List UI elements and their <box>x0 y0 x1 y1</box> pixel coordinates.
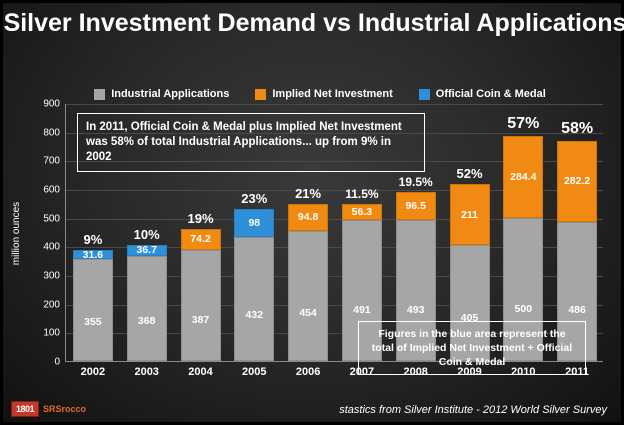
bar-value-top: 211 <box>450 210 490 221</box>
bar-value-top: 98 <box>234 218 274 229</box>
bar-value-industrial: 432 <box>234 310 274 321</box>
bar-value-top: 31.6 <box>73 250 113 261</box>
chart-legend: Industrial Applications Implied Net Inve… <box>65 85 575 103</box>
bar-value-top: 94.8 <box>288 212 328 223</box>
y-axis-tick: 500 <box>43 213 60 224</box>
legend-label-investment: Implied Net Investment <box>272 88 392 100</box>
legend-item-investment: Implied Net Investment <box>255 88 392 100</box>
bar-value-industrial: 387 <box>181 315 221 326</box>
bar-value-industrial: 491 <box>342 305 382 316</box>
bar-segment-industrial <box>181 250 221 361</box>
legend-item-industrial: Industrial Applications <box>94 88 229 100</box>
bar-value-top: 74.2 <box>181 234 221 245</box>
x-axis-tick-2004: 2004 <box>174 366 228 378</box>
bar-percent-2011: 58% <box>557 120 597 138</box>
x-axis-tick-2002: 2002 <box>66 366 120 378</box>
y-axis-tick: 400 <box>43 242 60 253</box>
chart-canvas: Silver Investment Demand vs Industrial A… <box>0 0 624 425</box>
x-axis-tick-2003: 2003 <box>120 366 174 378</box>
bar-percent-2004: 19% <box>181 211 221 226</box>
bar-value-top: 36.7 <box>127 245 167 256</box>
y-axis-tick: 800 <box>43 127 60 138</box>
y-axis-tick: 700 <box>43 156 60 167</box>
y-axis-tick: 0 <box>54 357 60 368</box>
bar-value-industrial: 493 <box>396 305 436 316</box>
annotation-note-top: In 2011, Official Coin & Medal plus Impl… <box>77 113 425 172</box>
y-axis-tick: 100 <box>43 328 60 339</box>
bar-percent-2005: 23% <box>234 191 274 206</box>
legend-swatch-investment <box>255 89 266 100</box>
bar-percent-2007: 11.5% <box>342 187 382 201</box>
bar-segment-industrial <box>127 256 167 361</box>
legend-label-industrial: Industrial Applications <box>111 88 229 100</box>
y-axis-label-text: million ounces <box>12 201 23 264</box>
bar-value-industrial: 500 <box>503 304 543 315</box>
bar-2003[interactable]: 36836.7 <box>127 245 167 361</box>
y-axis-tick: 600 <box>43 185 60 196</box>
bar-value-top: 96.5 <box>396 201 436 212</box>
bar-segment-industrial <box>234 237 274 361</box>
bar-value-industrial: 368 <box>127 316 167 327</box>
bar-value-top: 282.2 <box>557 176 597 187</box>
legend-label-coin: Official Coin & Medal <box>436 88 546 100</box>
y-axis-tick: 900 <box>43 99 60 110</box>
bar-percent-2006: 21% <box>288 186 328 201</box>
source-caption: stastics from Silver Institute - 2012 Wo… <box>339 404 607 416</box>
bar-value-top: 56.3 <box>342 207 382 218</box>
bar-percent-2009: 52% <box>450 166 490 181</box>
y-axis-tick: 300 <box>43 271 60 282</box>
bar-2004[interactable]: 38774.2 <box>181 229 221 361</box>
bar-segment-industrial <box>288 231 328 361</box>
bar-segment-industrial <box>73 259 113 361</box>
bar-value-top: 284.4 <box>503 172 543 183</box>
bar-percent-2002: 9% <box>73 232 113 247</box>
bar-2006[interactable]: 45494.8 <box>288 204 328 361</box>
bar-percent-2008: 19.5% <box>396 175 436 189</box>
bar-percent-2003: 10% <box>127 227 167 242</box>
bar-percent-2010: 57% <box>503 115 543 133</box>
logo-text: SRSrocco <box>43 404 86 414</box>
logo-badge: 1801 <box>11 401 39 417</box>
watermark-logo: 1801 SRSrocco <box>11 401 86 417</box>
gridline <box>66 104 603 105</box>
x-axis-tick-2005: 2005 <box>227 366 281 378</box>
legend-swatch-industrial <box>94 89 105 100</box>
bar-value-industrial: 486 <box>557 305 597 316</box>
bar-2005[interactable]: 43298 <box>234 209 274 361</box>
legend-swatch-coin <box>419 89 430 100</box>
bar-value-industrial: 454 <box>288 308 328 319</box>
bar-2002[interactable]: 35531.6 <box>73 250 113 361</box>
page-title: Silver Investment Demand vs Industrial A… <box>3 9 624 37</box>
y-axis-label: million ounces <box>9 104 25 362</box>
y-axis-tick: 200 <box>43 299 60 310</box>
legend-item-coin: Official Coin & Medal <box>419 88 546 100</box>
x-axis-tick-2006: 2006 <box>281 366 335 378</box>
bar-value-industrial: 355 <box>73 317 113 328</box>
annotation-note-bottom: Figures in the blue area represent the t… <box>358 321 586 375</box>
